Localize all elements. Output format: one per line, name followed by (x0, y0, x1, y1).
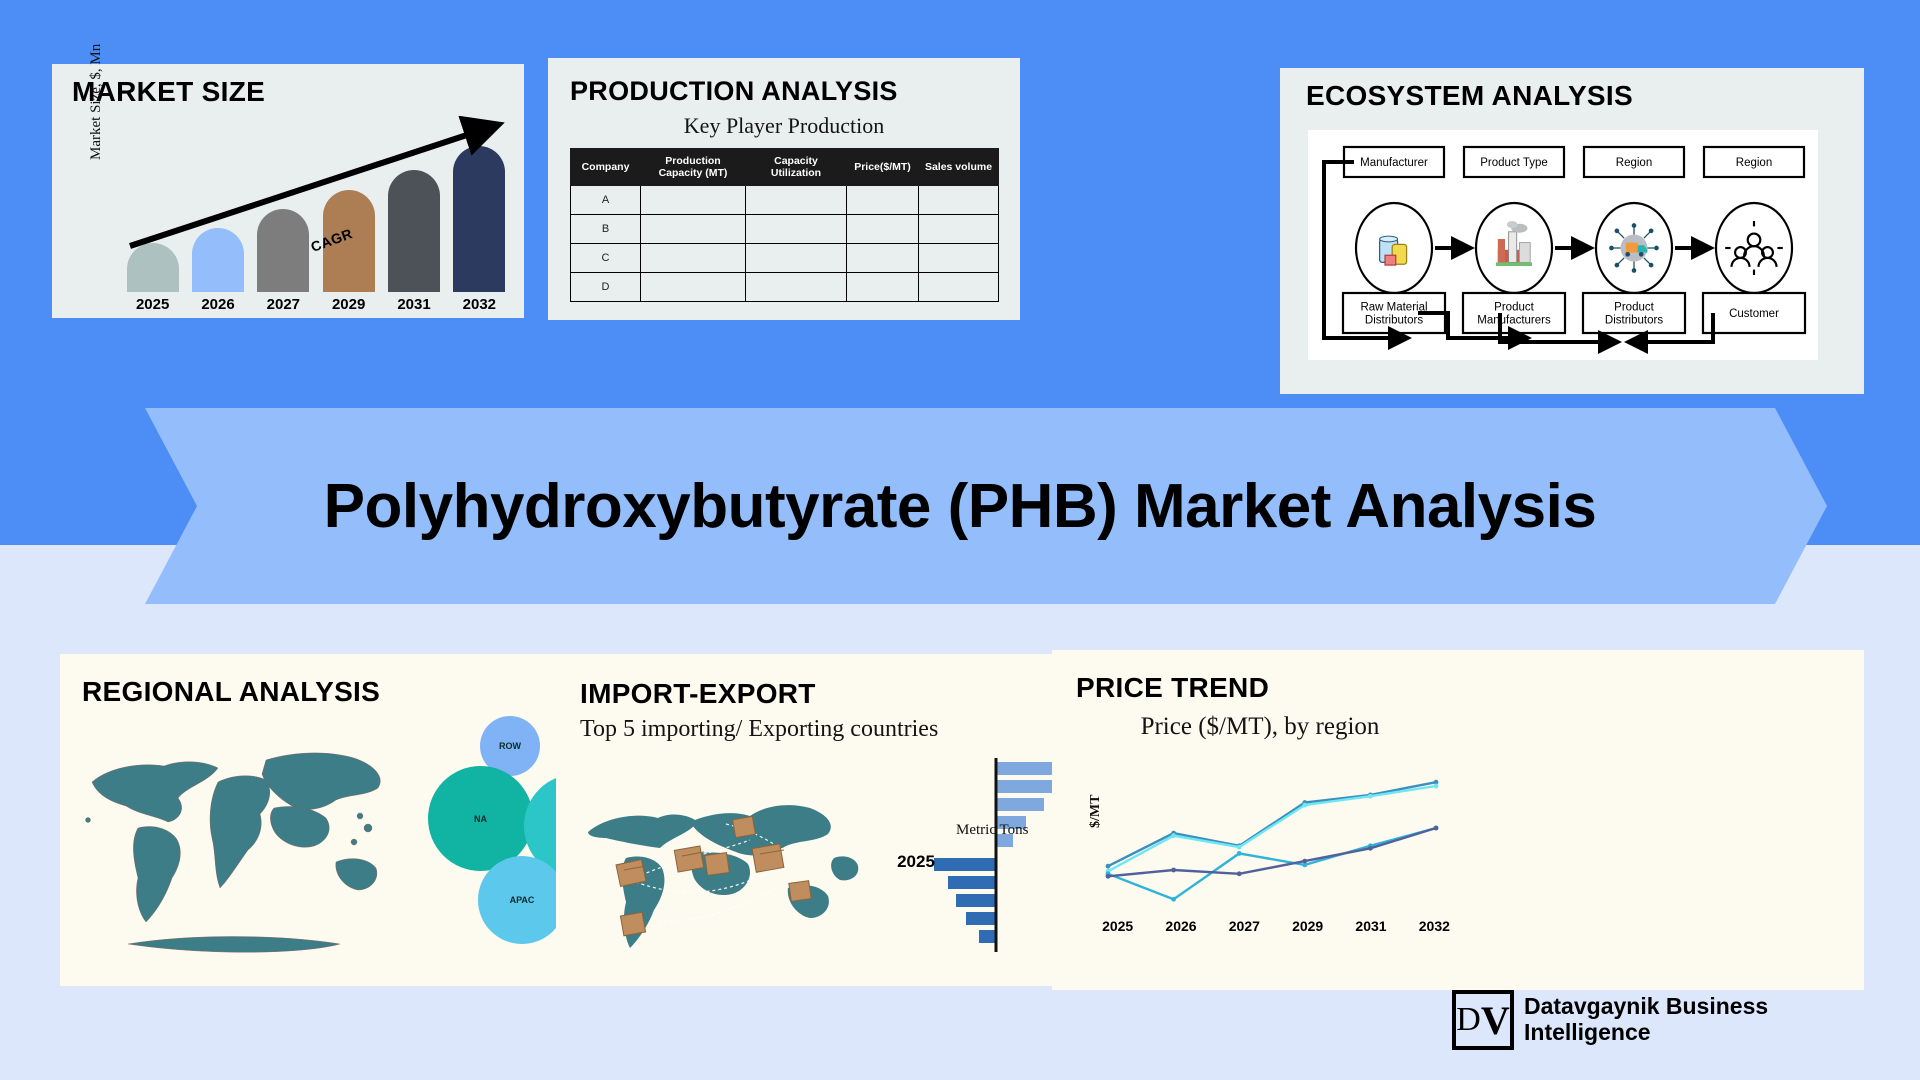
price-trend-data-point (1237, 845, 1242, 850)
panel-production-analysis: PRODUCTION ANALYSIS Key Player Productio… (548, 58, 1020, 320)
price-trend-series-line (1108, 828, 1436, 876)
price-trend-data-point (1302, 803, 1307, 808)
market-size-bar (453, 146, 505, 292)
market-size-bar (192, 228, 244, 292)
logo-letter-v: V (1481, 997, 1510, 1044)
table-row[interactable]: A (571, 186, 999, 215)
price-trend-year-label: 2032 (1406, 918, 1462, 934)
price-trend-series-line (1108, 828, 1436, 899)
panel-title-ecosystem-analysis: ECOSYSTEM ANALYSIS (1306, 80, 1633, 112)
table-cell[interactable] (847, 186, 919, 215)
ecosystem-top-label: Product Type (1464, 147, 1564, 177)
panel-price-trend: PRICE TREND Price ($/MT), by region $/MT… (1052, 650, 1864, 990)
market-size-bar (388, 170, 440, 292)
price-trend-data-point (1106, 874, 1111, 879)
svg-text:Region: Region (1616, 157, 1652, 169)
market-size-y-axis-label: Market Size, $, Mn (88, 44, 105, 160)
table-cell[interactable] (641, 244, 746, 273)
market-size-year-label: 2025 (123, 296, 183, 313)
export-bar (956, 894, 996, 907)
price-trend-subtitle: Price ($/MT), by region (1100, 712, 1420, 742)
price-trend-data-point (1302, 859, 1307, 864)
price-trend-year-label: 2027 (1216, 918, 1272, 934)
table-column-header: Sales volume (919, 149, 999, 186)
table-cell[interactable] (919, 273, 999, 302)
panel-market-size: MARKET SIZE Market Size, $, Mn CAGR 2025… (52, 64, 524, 318)
company-logo: DV Datavgaynik Business Intelligence (1452, 990, 1824, 1050)
price-trend-year-label: 2025 (1090, 918, 1146, 934)
svg-text:Manufacturer: Manufacturer (1360, 157, 1428, 169)
svg-text:Raw MaterialDistributors: Raw MaterialDistributors (1360, 302, 1427, 327)
svg-text:Product Type: Product Type (1480, 157, 1548, 169)
price-trend-data-point (1237, 851, 1242, 856)
ecosystem-top-label: Region (1704, 147, 1804, 177)
price-trend-year-label: 2026 (1153, 918, 1209, 934)
ecosystem-flow-diagram: ManufacturerRaw MaterialDistributorsProd… (1308, 130, 1818, 360)
table-header-row: CompanyProduction Capacity (MT)Capacity … (571, 149, 999, 186)
table-column-header: Company (571, 149, 641, 186)
ecosystem-bottom-label: Customer (1703, 293, 1805, 333)
market-size-year-label: 2027 (253, 296, 313, 313)
table-cell[interactable]: A (571, 186, 641, 215)
price-trend-year-label: 2029 (1280, 918, 1336, 934)
production-subtitle: Key Player Production (548, 113, 1020, 139)
export-bar (979, 930, 996, 943)
price-trend-data-point (1171, 897, 1176, 902)
table-column-header: Price($/MT) (847, 149, 919, 186)
main-title-ribbon: Polyhydroxybutyrate (PHB) Market Analysi… (40, 408, 1880, 604)
table-cell[interactable] (641, 215, 746, 244)
svg-text:Region: Region (1736, 157, 1772, 169)
market-size-bars (120, 132, 512, 292)
panel-title-import-export: IMPORT-EXPORT (580, 678, 816, 710)
logo-letter-d: D (1456, 1001, 1481, 1039)
panel-title-regional-analysis: REGIONAL ANALYSIS (82, 676, 380, 708)
import-bar (996, 798, 1044, 811)
page-title: Polyhydroxybutyrate (PHB) Market Analysi… (324, 471, 1597, 542)
market-size-x-axis-labels: 202520262027202920312032 (120, 296, 512, 318)
table-body: ABCD (571, 186, 999, 302)
table-cell[interactable] (746, 244, 847, 273)
panel-title-price-trend: PRICE TREND (1076, 672, 1269, 704)
table-cell[interactable] (847, 273, 919, 302)
table-column-header: Production Capacity (MT) (641, 149, 746, 186)
table-cell[interactable] (746, 186, 847, 215)
trade-routes-map-icon (578, 762, 878, 962)
world-map-icon (68, 716, 420, 972)
price-trend-line-chart (1102, 772, 1442, 912)
table-row[interactable]: B (571, 215, 999, 244)
export-bar (966, 912, 996, 925)
market-size-bar (127, 243, 179, 292)
table-cell[interactable] (641, 273, 746, 302)
ecosystem-top-label: Manufacturer (1344, 147, 1444, 177)
export-bar (948, 876, 996, 889)
panel-regional-analysis: REGIONAL ANALYSIS ROWNAEuropeAPAC (60, 654, 638, 986)
price-trend-year-label: 2031 (1343, 918, 1399, 934)
price-trend-data-point (1171, 868, 1176, 873)
table-cell[interactable] (919, 186, 999, 215)
ecosystem-bottom-label: ProductDistributors (1583, 293, 1685, 333)
price-trend-data-point (1368, 794, 1373, 799)
table-column-header: Capacity Utilization (746, 149, 847, 186)
panel-import-export: IMPORT-EXPORT Top 5 importing/ Exporting… (556, 654, 1134, 986)
table-cell[interactable] (746, 273, 847, 302)
ecosystem-bottom-label: ProductManufacturers (1463, 293, 1565, 333)
price-trend-data-point (1434, 826, 1439, 831)
import-export-subtitle: Top 5 importing/ Exporting countries (580, 716, 938, 743)
metric-tons-label: Metric Tons (956, 822, 1028, 839)
logo-company-name: Datavgaynik Business Intelligence (1524, 994, 1824, 1046)
market-size-year-label: 2031 (384, 296, 444, 313)
market-size-bar (257, 209, 309, 292)
table-cell[interactable] (746, 215, 847, 244)
ecosystem-diagram-svg: ManufacturerRaw MaterialDistributorsProd… (1308, 130, 1818, 360)
price-trend-data-point (1434, 784, 1439, 789)
panel-title-production-analysis: PRODUCTION ANALYSIS (570, 76, 898, 107)
import-export-year-label: 2025 (886, 852, 946, 872)
key-player-production-table: CompanyProduction Capacity (MT)Capacity … (570, 148, 999, 302)
table-cell[interactable]: D (571, 273, 641, 302)
table-cell[interactable] (847, 215, 919, 244)
table-cell[interactable] (919, 215, 999, 244)
price-trend-data-point (1237, 871, 1242, 876)
panel-ecosystem-analysis: ECOSYSTEM ANALYSIS ManufacturerRaw Mater… (1280, 68, 1864, 394)
ecosystem-top-label: Region (1584, 147, 1684, 177)
table-row[interactable]: C (571, 244, 999, 273)
table-cell[interactable] (919, 244, 999, 273)
price-trend-data-point (1368, 846, 1373, 851)
table-cell[interactable]: B (571, 215, 641, 244)
table-row[interactable]: D (571, 273, 999, 302)
svg-text:Customer: Customer (1729, 308, 1779, 320)
dv-monogram-icon: DV (1452, 990, 1514, 1050)
price-trend-x-axis-labels: 202520262027202920312032 (1086, 918, 1466, 938)
table-cell[interactable]: C (571, 244, 641, 273)
market-size-year-label: 2032 (449, 296, 509, 313)
table-cell[interactable] (641, 186, 746, 215)
distribution-network-icon (1609, 223, 1659, 273)
region-bubble[interactable]: APAC (478, 856, 566, 944)
price-trend-data-point (1171, 833, 1176, 838)
market-size-year-label: 2029 (319, 296, 379, 313)
market-size-year-label: 2026 (188, 296, 248, 313)
import-bar (996, 780, 1058, 793)
price-trend-data-point (1106, 864, 1111, 869)
table-cell[interactable] (847, 244, 919, 273)
